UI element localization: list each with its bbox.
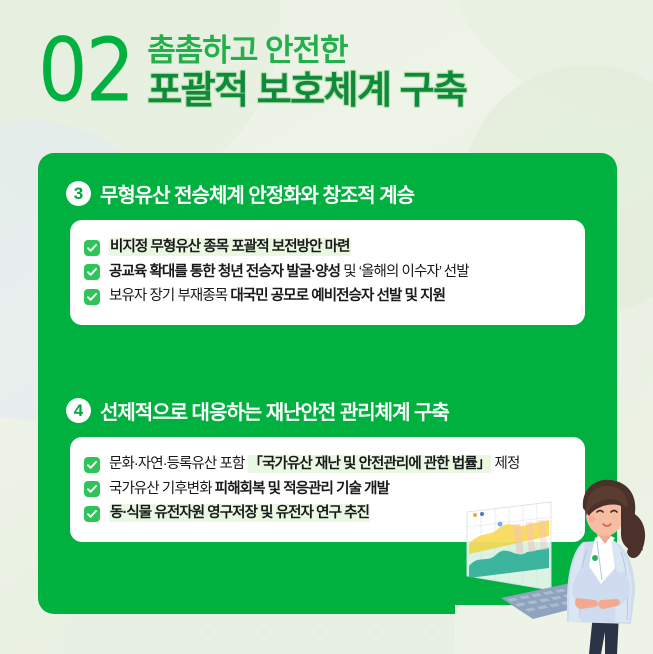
list-item-text-part: 비지정 무형유산 종목 포괄적 보전방안 마련 [109,238,351,256]
list-item-text: 보유자 장기 부재종목 대국민 공모로 예비전승자 선발 및 지원 [109,287,445,307]
section-4-title: 선제적으로 대응하는 재난안전 관리체계 구축 [100,396,449,425]
list-item-text-part: 문화·자연·등록유산 포함 [109,456,248,472]
researcher-illustration [455,472,653,654]
list-item-text-part: 동·식물 유전자원 영구저장 및 유전자 연구 추진 [109,504,370,522]
list-item-text-part: 제정 [491,456,519,472]
section-3: 3 무형유산 전승체계 안정화와 창조적 계승 비지정 무형유산 종목 포괄적 … [38,179,617,325]
section-3-badge: 3 [66,181,91,206]
check-icon [84,481,100,497]
section-4-badge: 4 [66,398,91,423]
list-item-text-part: 및 ‘올해의 이수자’ 선발 [343,264,468,280]
list-item-text-part: 대국민 공모로 예비전승자 선발 및 지원 [230,288,445,304]
section-number-02: 02 [38,30,133,113]
list-item: 보유자 장기 부재종목 대국민 공모로 예비전승자 선발 및 지원 [84,287,569,307]
list-item: 공교육 확대를 통한 청년 전승자 발굴·양성 및 ‘올해의 이수자’ 선발 [84,263,569,283]
list-item-text-part: 공교육 확대를 통한 청년 전승자 발굴·양성 [109,264,343,280]
list-item-text: 공교육 확대를 통한 청년 전승자 발굴·양성 및 ‘올해의 이수자’ 선발 [109,263,469,283]
check-icon [84,506,100,522]
list-item-text-part: 국가유산 기후변화 [109,481,215,497]
infographic-page: 02 촘촘하고 안전한 포괄적 보호체계 구축 3 무형유산 전승체계 안정화와… [0,0,653,654]
section-3-title: 무형유산 전승체계 안정화와 창조적 계승 [100,179,414,208]
list-item-text: 동·식물 유전자원 영구저장 및 유전자 연구 추진 [109,504,370,524]
list-item-text-part: 피해회복 및 적응관리 기술 개발 [215,481,389,497]
list-item-text-part: 「국가유산 재난 및 안전관리에 관한 법률」 [248,455,492,473]
page-header: 02 촘촘하고 안전한 포괄적 보호체계 구축 [38,28,638,148]
list-item-text: 비지정 무형유산 종목 포괄적 보전방안 마련 [109,238,351,258]
list-item: 비지정 무형유산 종목 포괄적 보전방안 마련 [84,238,569,258]
check-icon [84,264,100,280]
check-icon [84,457,100,473]
section-3-header: 3 무형유산 전승체계 안정화와 창조적 계승 [38,179,617,208]
list-item-text: 국가유산 기후변화 피해회복 및 적응관리 기술 개발 [109,480,389,500]
page-title-line1: 촘촘하고 안전한 [147,34,466,69]
check-icon [84,289,100,305]
section-3-panel: 비지정 무형유산 종목 포괄적 보전방안 마련 공교육 확대를 통한 청년 전승… [70,220,585,325]
page-title-line2: 포괄적 보호체계 구축 [147,70,466,114]
list-item-text-part: 보유자 장기 부재종목 [109,288,230,304]
header-titles: 촘촘하고 안전한 포괄적 보호체계 구축 [147,28,466,113]
section-4-header: 4 선제적으로 대응하는 재난안전 관리체계 구축 [38,396,617,425]
check-icon [84,240,100,256]
